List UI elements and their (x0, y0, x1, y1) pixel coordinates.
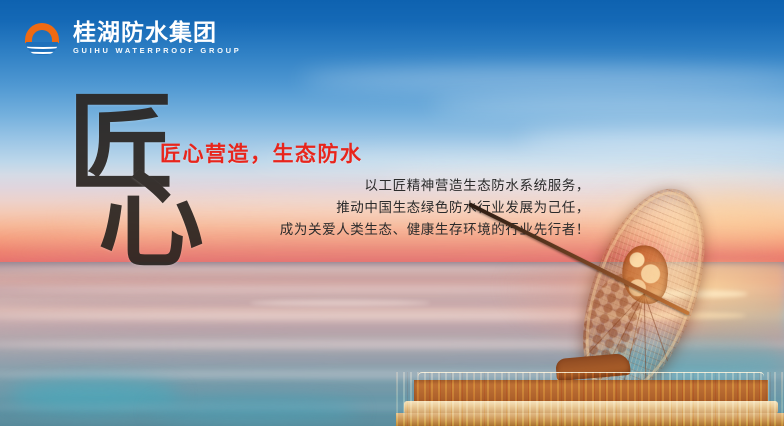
logo-text: 桂湖防水集团 GUIHU WATERPROOF GROUP (73, 22, 241, 55)
logo-name-cn: 桂湖防水集团 (73, 22, 241, 45)
company-logo[interactable]: 桂湖防水集团 GUIHU WATERPROOF GROUP (22, 20, 241, 56)
hero-banner: 匠 心 匠心营造，生态防水 以工匠精神营造生态防水系统服务， 推动中国生态绿色防… (0, 0, 784, 426)
sundial-stone-base (396, 372, 784, 426)
arch-over-waves-logo-mark (22, 20, 62, 56)
stone-sundial-sculpture (396, 186, 784, 426)
arch-icon (25, 23, 59, 43)
base-foot-slab (396, 413, 784, 426)
headline: 匠心营造，生态防水 (160, 142, 590, 167)
logo-name-en: GUIHU WATERPROOF GROUP (73, 47, 241, 55)
base-middle-block (414, 380, 768, 402)
wave-icon (26, 42, 58, 55)
